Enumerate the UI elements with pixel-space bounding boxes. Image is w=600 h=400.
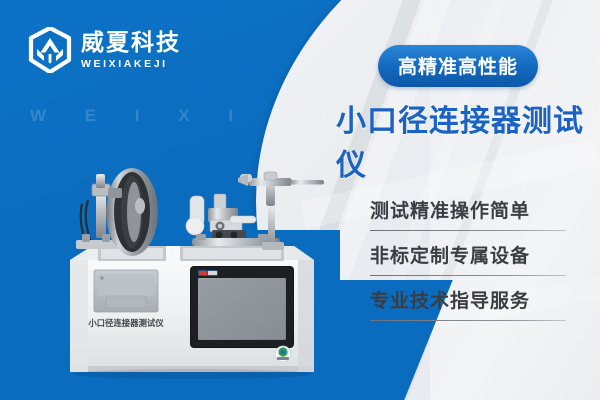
list-item: 测试精准操作简单 (370, 196, 570, 231)
feature-divider (370, 230, 566, 231)
disc-assembly (76, 168, 158, 256)
product-banner: 威夏科技 WEIXIAKEJI W E I X I A K E 高精准高性能 小… (0, 0, 600, 400)
feature-divider (370, 275, 566, 276)
list-item: 专业技术指导服务 (370, 286, 570, 321)
page-title: 小口径连接器测试仪 (336, 96, 600, 184)
brand-name-en: WEIXIAKEJI (81, 59, 181, 70)
product-front-label: 小口径连接器测试仪 (87, 318, 164, 328)
fixture-assembly (186, 194, 280, 246)
brand-logo: 威夏科技 WEIXIAKEJI (28, 27, 181, 73)
touchscreen-panel (190, 266, 294, 348)
feature-list: 测试精准操作简单 非标定制专属设备 专业技术指导服务 (370, 196, 570, 331)
list-item: 非标定制专属设备 (370, 241, 570, 276)
product-image: 小口径连接器测试仪 (62, 160, 324, 382)
feature-text: 专业技术指导服务 (370, 286, 570, 313)
front-panel-tray (94, 270, 158, 312)
highlight-badge: 高精准高性能 (378, 45, 538, 87)
feature-text: 测试精准操作简单 (370, 196, 570, 223)
feature-text: 非标定制专属设备 (370, 241, 570, 268)
certification-seal-icon (275, 346, 291, 362)
feature-divider (370, 320, 566, 321)
brand-name-cn: 威夏科技 (81, 31, 181, 54)
hexagon-shield-logo-icon (28, 27, 72, 73)
